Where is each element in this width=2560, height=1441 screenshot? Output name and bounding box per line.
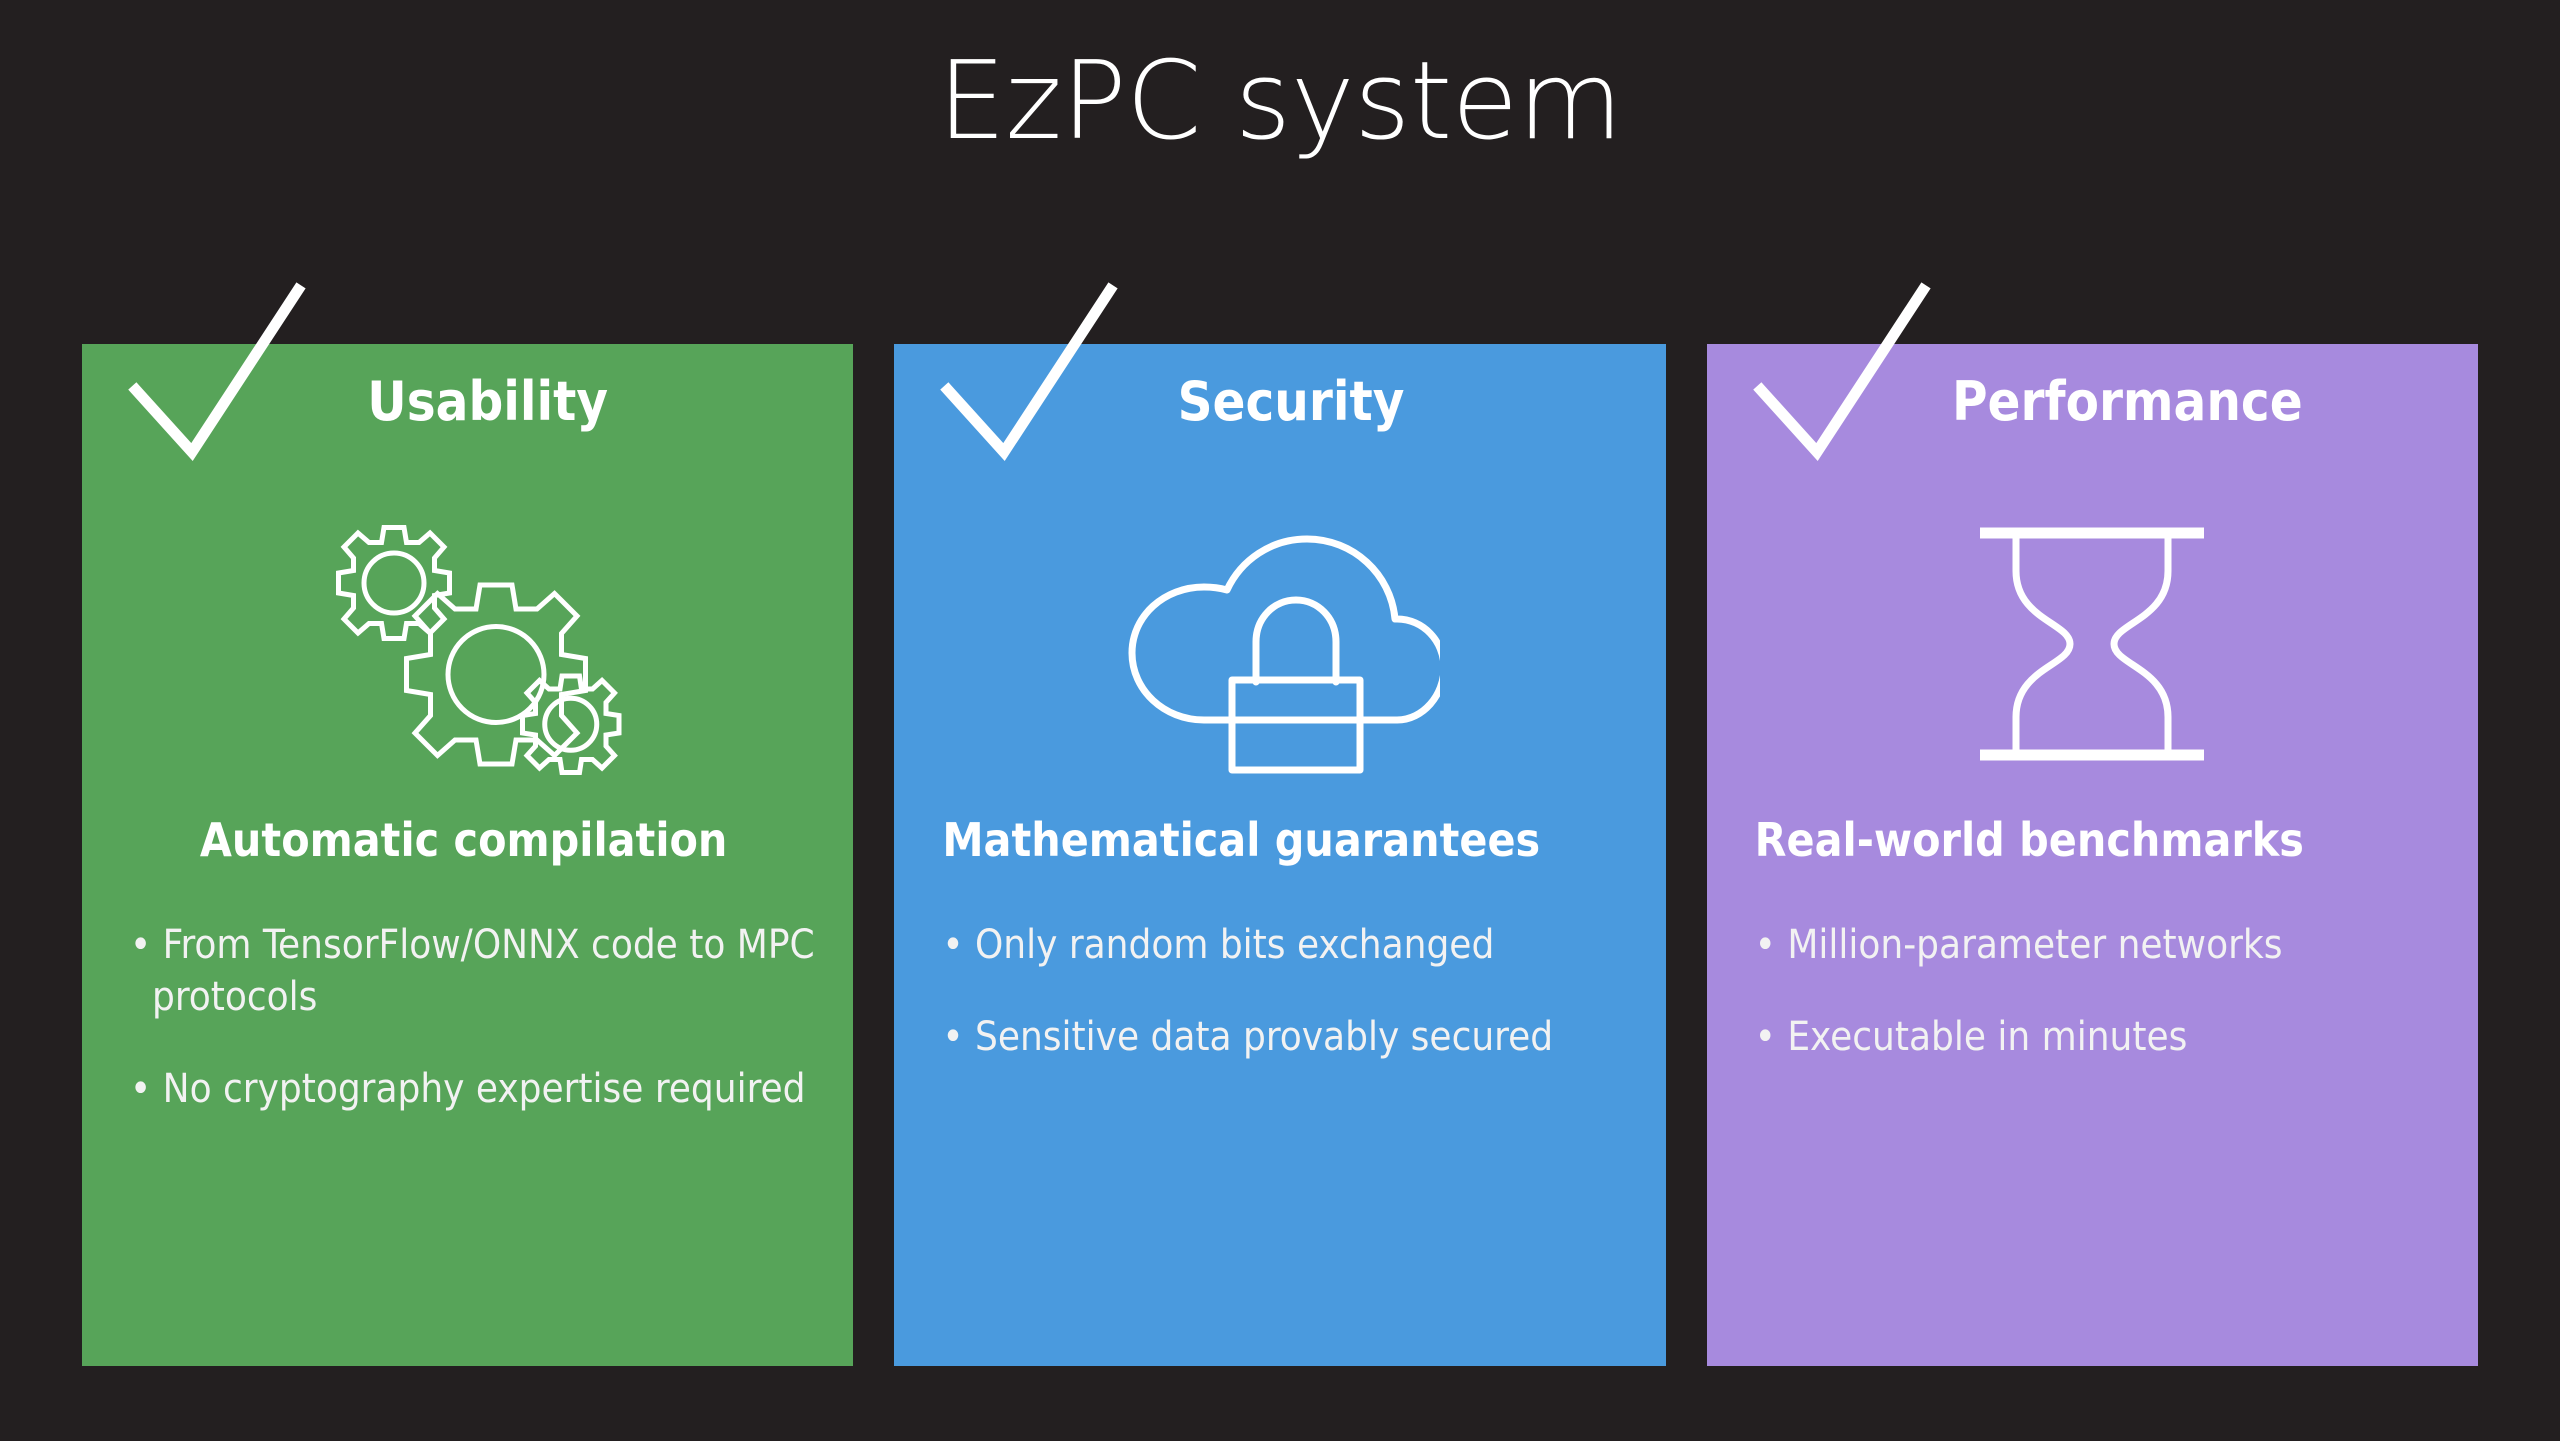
cloud-lock-icon [894,484,1665,804]
card-performance-header: Performance [1707,372,2478,431]
list-item: • Sensitive data provably secured [942,1011,1635,1063]
card-usability-header: Usability [82,372,853,431]
feature-cards-row: Usability Au [82,344,2478,1366]
hourglass-icon [1707,484,2478,804]
card-usability-body-heading: Automatic compilation [130,814,823,867]
card-security-body: Mathematical guarantees • Only random bi… [942,814,1635,1063]
gears-icon [82,484,853,804]
card-usability[interactable]: Usability Au [82,344,853,1366]
card-performance-body: Real-world benchmarks • Million-paramete… [1755,814,2448,1063]
page-title: EzPC system [0,38,2560,165]
card-performance-bullets: • Million-parameter networks • Executabl… [1755,919,2448,1063]
list-item: • Million-parameter networks [1755,919,2448,971]
card-security[interactable]: Security Mathematical guarantees [894,344,1665,1366]
card-performance-body-heading: Real-world benchmarks [1755,814,2448,867]
slide-canvas: EzPC system Usability [0,0,2560,1441]
list-item: • From TensorFlow/ONNX code to MPC proto… [130,919,823,1023]
list-item: • Only random bits exchanged [942,919,1635,971]
card-security-bullets: • Only random bits exchanged • Sensitive… [942,919,1635,1063]
card-security-header: Security [894,372,1665,431]
card-usability-body: Automatic compilation • From TensorFlow/… [130,814,823,1115]
list-item: • Executable in minutes [1755,1011,2448,1063]
card-performance[interactable]: Performance Real-world be [1707,344,2478,1366]
card-security-body-heading: Mathematical guarantees [942,814,1635,867]
card-usability-bullets: • From TensorFlow/ONNX code to MPC proto… [130,919,823,1115]
list-item: • No cryptography expertise required [130,1063,823,1115]
